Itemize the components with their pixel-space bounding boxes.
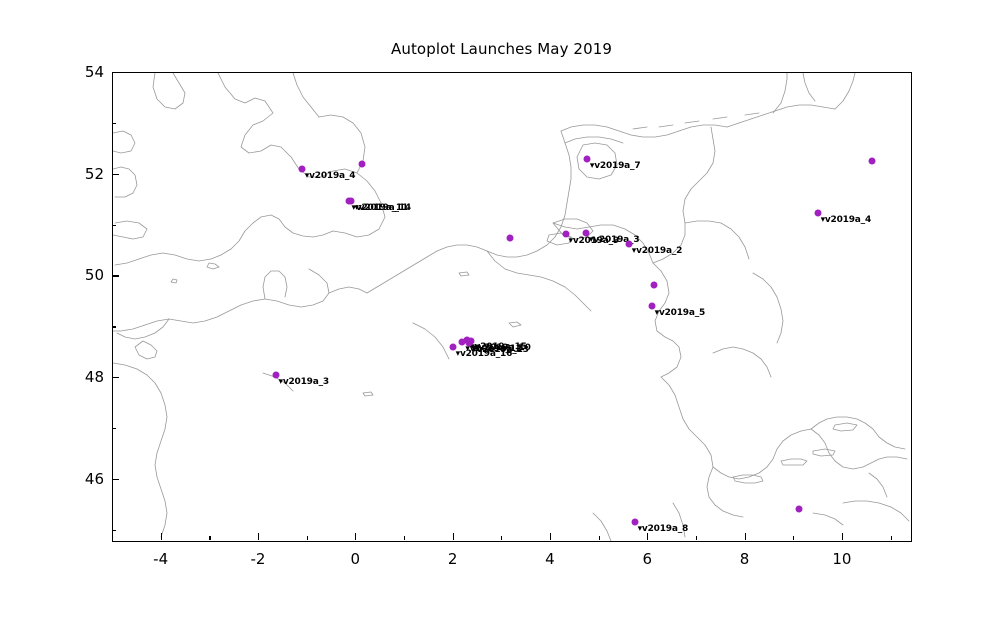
scatter-point	[358, 160, 365, 167]
y-axis-major-tick	[112, 377, 119, 378]
x-axis-minor-tick	[696, 536, 697, 540]
y-axis-minor-tick	[112, 326, 116, 327]
x-axis-tick-label: 8	[740, 550, 750, 568]
x-axis-minor-tick	[307, 536, 308, 540]
y-axis-tick-label: 46	[68, 470, 104, 488]
scatter-point-label: ▾v2019a_2	[632, 246, 682, 256]
scatter-point	[796, 506, 803, 513]
y-axis-major-tick	[112, 72, 119, 73]
x-axis-tick-label: 2	[448, 550, 458, 568]
scatter-point-label: ▾v2019a_4	[821, 215, 871, 225]
x-axis-tick-label: 0	[351, 550, 361, 568]
chart-title: Autoplot Launches May 2019	[0, 40, 1003, 58]
x-axis-major-tick	[355, 533, 356, 540]
x-axis-major-tick	[745, 533, 746, 540]
x-axis-minor-tick	[501, 536, 502, 540]
figure-canvas: Autoplot Launches May 2019	[0, 0, 1003, 633]
y-axis-tick-label: 54	[68, 63, 104, 81]
x-axis-major-tick	[161, 533, 162, 540]
x-axis-tick-label: 6	[642, 550, 652, 568]
y-axis-minor-tick	[112, 530, 116, 531]
scatter-point-label: ▾v2019a_5	[655, 308, 705, 318]
x-axis-minor-tick	[112, 536, 113, 540]
x-axis-major-tick	[453, 533, 454, 540]
scatter-points-layer: ▾v2019a_4▾v2019a_11▾v2019a_14▾v2019a_3▾v…	[113, 73, 911, 541]
x-axis-minor-tick	[209, 536, 210, 540]
y-axis-tick-label: 50	[68, 266, 104, 284]
scatter-point-label: ▾v2019a_3	[279, 377, 329, 387]
x-axis-minor-tick	[404, 536, 405, 540]
x-axis-minor-tick	[599, 536, 600, 540]
y-axis-tick-label: 48	[68, 368, 104, 386]
x-axis-major-tick	[550, 533, 551, 540]
scatter-point	[506, 235, 513, 242]
y-axis-major-tick	[112, 479, 119, 480]
y-axis-major-tick	[112, 275, 119, 276]
y-axis-minor-tick	[112, 428, 116, 429]
y-axis-minor-tick	[112, 123, 116, 124]
y-axis-minor-tick	[112, 225, 116, 226]
scatter-point-label: ▾v2019a_10	[474, 343, 531, 353]
x-axis-minor-tick	[793, 536, 794, 540]
y-axis-tick-label: 52	[68, 165, 104, 183]
x-axis-major-tick	[842, 533, 843, 540]
y-axis-major-tick	[112, 174, 119, 175]
x-axis-tick-label: -2	[250, 550, 265, 568]
x-axis-tick-label: 10	[832, 550, 851, 568]
scatter-point	[869, 158, 876, 165]
x-axis-tick-label: 4	[545, 550, 555, 568]
scatter-point-label: ▾v2019a_7	[590, 161, 640, 171]
plot-area: ▾v2019a_4▾v2019a_11▾v2019a_14▾v2019a_3▾v…	[112, 72, 912, 542]
scatter-point-label: ▾v2019a_14	[354, 203, 411, 213]
x-axis-minor-tick	[891, 536, 892, 540]
scatter-point	[651, 282, 658, 289]
x-axis-tick-label: -4	[153, 550, 168, 568]
scatter-point-label: ▾v2019a_4	[305, 171, 355, 181]
scatter-point-label: ▾v2019a_8	[638, 524, 688, 534]
x-axis-major-tick	[258, 533, 259, 540]
x-axis-major-tick	[647, 533, 648, 540]
